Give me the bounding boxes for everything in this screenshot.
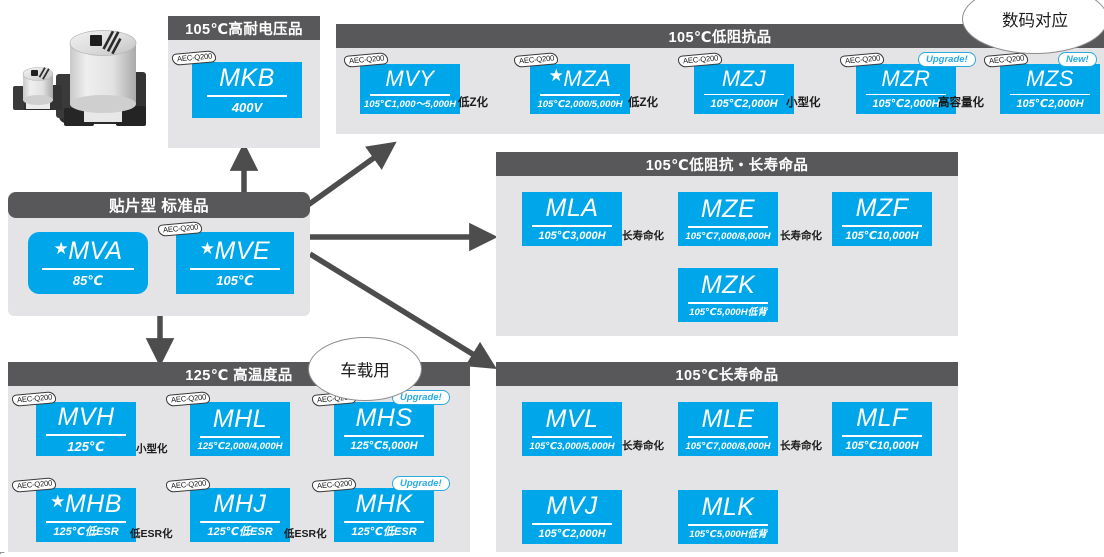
product-spec-mvh: 125℃ xyxy=(67,440,104,453)
transition-label-low-z-1: 低Z化 xyxy=(458,98,488,110)
product-box-mhs[interactable]: MHS 125℃5,000H xyxy=(334,402,434,456)
product-code-mlk: MLK xyxy=(702,495,755,520)
product-spec-mvj: 105℃2,000H xyxy=(538,529,605,540)
panel-title-low-impedance-long-life: 105℃低阻抗・长寿命品 xyxy=(496,152,958,176)
product-spec-mhj: 125℃低ESR xyxy=(207,527,272,538)
product-spec-mlf: 105℃10,000H xyxy=(845,441,918,452)
divider xyxy=(370,94,450,96)
divider xyxy=(42,268,134,270)
product-code-mzk: MZK xyxy=(701,273,755,298)
product-box-mhb[interactable]: ★MHB 125℃低ESR xyxy=(36,488,136,542)
transition-label-miniaturization: 小型化 xyxy=(786,98,821,110)
product-code-mhj: MHJ xyxy=(214,492,267,517)
status-badge-new: New! xyxy=(1058,52,1097,67)
divider xyxy=(46,434,126,436)
product-box-mhj[interactable]: MHJ 125℃低ESR xyxy=(190,488,290,542)
transition-label-long-life-1: 长寿命化 xyxy=(622,231,664,242)
divider xyxy=(532,523,612,525)
divider xyxy=(200,521,280,523)
product-code-mhl: MHL xyxy=(213,407,267,432)
transition-label-miniaturization-ht: 小型化 xyxy=(136,444,168,455)
divider xyxy=(842,225,922,227)
product-spec-mkb: 400V xyxy=(232,101,262,114)
panel-low-impedance-long-life: 105℃低阻抗・长寿命品 MLA 105℃3,000H MZE 105℃7,00… xyxy=(496,152,958,336)
divider xyxy=(704,94,784,96)
product-code-mza: ★MZA xyxy=(549,68,612,90)
product-code-mvh: MVH xyxy=(57,405,114,430)
product-code-mzr: MZR xyxy=(881,68,930,90)
product-box-mlk[interactable]: MLK 105℃5,000H低背 xyxy=(678,490,778,544)
divider xyxy=(344,435,424,437)
product-spec-mzj: 105℃2,000H xyxy=(710,99,777,110)
product-spec-mzf: 105℃10,000H xyxy=(845,231,918,242)
product-code-mlf: MLF xyxy=(856,406,908,431)
product-box-mvy[interactable]: MVY 105℃1,000～5,000H xyxy=(360,64,460,114)
product-code-mvj: MVJ xyxy=(546,494,598,519)
product-code-mle: MLE xyxy=(702,407,755,432)
divider xyxy=(688,436,768,438)
smd-aluminum-capacitor-photo xyxy=(4,12,164,144)
callout-label-automotive: 车载用 xyxy=(340,357,390,381)
product-code-mvl: MVL xyxy=(546,407,599,432)
transition-label-low-esr-2: 低ESR化 xyxy=(284,529,327,540)
divider xyxy=(190,268,280,270)
product-box-mhk[interactable]: MHK 125℃低ESR xyxy=(334,488,434,542)
product-box-mlf[interactable]: MLF 105℃10,000H xyxy=(832,402,932,456)
divider xyxy=(207,95,287,97)
product-spec-mzs: 105℃2,000H xyxy=(1016,99,1083,110)
divider xyxy=(688,524,768,526)
transition-label-low-esr-1: 低ESR化 xyxy=(130,529,173,540)
status-badge-upgrade: Upgrade! xyxy=(392,476,450,491)
divider xyxy=(842,435,922,437)
product-box-mze[interactable]: MZE 105℃7,000/8,000H xyxy=(678,192,778,246)
product-spec-mla: 105℃3,000H xyxy=(538,231,605,242)
product-spec-mzk: 105℃5,000H低背 xyxy=(689,308,767,318)
transition-label-long-life-2: 长寿命化 xyxy=(780,231,822,242)
product-code-mve: ★MVE xyxy=(200,239,270,264)
product-box-mla[interactable]: MLA 105℃3,000H xyxy=(522,192,622,246)
product-box-mvj[interactable]: MVJ 105℃2,000H xyxy=(522,490,622,544)
product-spec-mle: 105℃7,000/8,000H xyxy=(685,442,770,452)
product-box-mzs[interactable]: MZS 105℃2,000H xyxy=(1000,64,1100,114)
product-box-mle[interactable]: MLE 105℃7,000/8,000H xyxy=(678,402,778,456)
divider xyxy=(1010,94,1090,96)
product-spec-mze: 105℃7,000/8,000H xyxy=(685,232,770,242)
panel-title-long-life: 105℃长寿命品 xyxy=(496,362,958,386)
product-roadmap-diagram: 105℃高耐电压品 MKB 400V AEC-Q200 105℃低阻抗品 MVY… xyxy=(0,0,1104,556)
product-spec-mhk: 125℃低ESR xyxy=(351,527,416,538)
corner-mark: ⌐ xyxy=(0,548,7,556)
product-spec-mve: 105℃ xyxy=(216,274,253,287)
product-box-mve[interactable]: ★MVE 105℃ xyxy=(176,232,294,294)
product-code-mva: ★MVA xyxy=(53,239,122,264)
callout-automotive-use: 车载用 xyxy=(308,337,422,401)
star-icon: ★ xyxy=(53,240,69,257)
status-badge-upgrade: Upgrade! xyxy=(918,52,976,67)
product-box-mza[interactable]: ★MZA 105℃2,000/5,000H xyxy=(530,64,630,114)
product-box-mzj[interactable]: MZJ 105℃2,000H xyxy=(694,64,794,114)
product-code-mkb: MKB xyxy=(219,66,275,91)
product-spec-mhb: 125℃低ESR xyxy=(53,527,118,538)
product-box-mhl[interactable]: MHL 125℃2,000/4,000H xyxy=(190,402,290,456)
product-box-mvh[interactable]: MVH 125℃ xyxy=(36,402,136,456)
product-code-mzf: MZF xyxy=(856,196,909,221)
product-spec-mzr: 105℃2,000H xyxy=(872,99,939,110)
transition-label-long-life-4: 长寿命化 xyxy=(780,441,822,452)
star-icon: ★ xyxy=(549,67,565,84)
product-spec-mza: 105℃2,000/5,000H xyxy=(537,100,622,110)
product-code-mla: MLA xyxy=(546,196,599,221)
divider xyxy=(688,226,768,228)
product-spec-mhs: 125℃5,000H xyxy=(350,441,417,452)
product-code-mhk: MHK xyxy=(355,492,412,517)
product-box-mzf[interactable]: MZF 105℃10,000H xyxy=(832,192,932,246)
divider xyxy=(540,94,620,96)
callout-label-digital: 数码对应 xyxy=(1002,7,1068,31)
divider xyxy=(344,521,424,523)
divider xyxy=(866,94,946,96)
panel-title-standard: 贴片型 标准品 xyxy=(8,192,310,218)
product-code-mhb: ★MHB xyxy=(50,492,122,517)
divider xyxy=(688,302,768,304)
product-spec-mvy: 105℃1,000～5,000H xyxy=(364,100,456,110)
panel-long-life: 105℃长寿命品 MVL 105℃3,000/5,000H MLE 105℃7,… xyxy=(496,362,958,552)
panel-high-voltage: 105℃高耐电压品 MKB 400V AEC-Q200 xyxy=(168,16,320,148)
product-spec-mvl: 105℃3,000/5,000H xyxy=(529,442,614,452)
divider xyxy=(200,436,280,438)
transition-label-high-capacity: 高容量化 xyxy=(938,98,984,110)
divider xyxy=(46,521,126,523)
panel-title-high-voltage: 105℃高耐电压品 xyxy=(168,16,320,40)
transition-label-low-z-2: 低Z化 xyxy=(628,98,658,110)
product-box-mkb[interactable]: MKB 400V xyxy=(192,62,302,118)
product-box-mvl[interactable]: MVL 105℃3,000/5,000H xyxy=(522,402,622,456)
product-code-mvy: MVY xyxy=(385,68,434,90)
transition-label-long-life-3: 长寿命化 xyxy=(622,441,664,452)
product-code-mze: MZE xyxy=(701,197,755,222)
divider xyxy=(532,225,612,227)
product-spec-mlk: 105℃5,000H低背 xyxy=(689,530,767,540)
product-box-mva[interactable]: ★MVA 85℃ xyxy=(28,232,148,294)
product-spec-mva: 85℃ xyxy=(73,274,103,287)
star-icon: ★ xyxy=(50,493,66,510)
product-code-mhs: MHS xyxy=(355,406,412,431)
star-icon: ★ xyxy=(200,240,216,257)
product-code-mzs: MZS xyxy=(1026,68,1074,90)
divider xyxy=(532,436,612,438)
product-code-mzj: MZJ xyxy=(722,68,766,90)
product-spec-mhl: 125℃2,000/4,000H xyxy=(197,442,282,452)
product-box-mzk[interactable]: MZK 105℃5,000H低背 xyxy=(678,268,778,322)
panel-standard: 贴片型 标准品 ★MVA 85℃ ★MVE 105℃ AEC-Q200 xyxy=(8,192,310,316)
